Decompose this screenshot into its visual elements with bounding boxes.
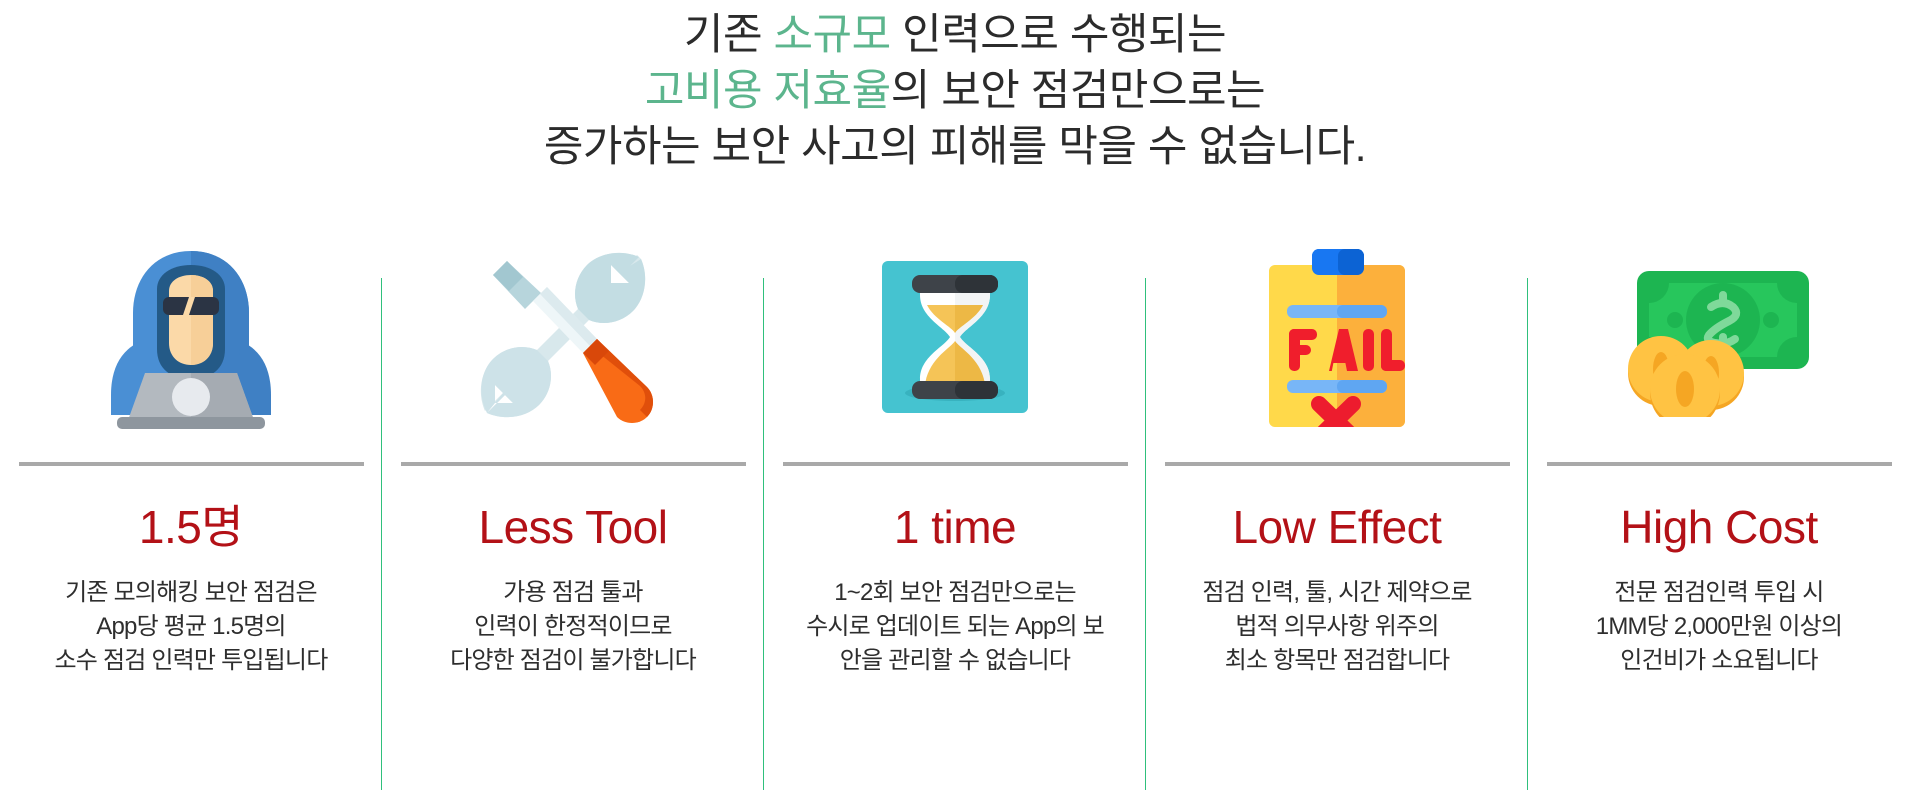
card-desc-line: 1MM당 2,000만원 이상의: [1596, 610, 1842, 644]
card-desc-line: 기존 모의해킹 보안 점검은: [55, 576, 328, 610]
card-metric-2: Less Tool: [478, 504, 667, 550]
card-description-1: 기존 모의해킹 보안 점검은 App당 평균 1.5명의 소수 점검 인력만 투…: [55, 576, 328, 678]
headline-line-1-pre: 기존: [684, 11, 774, 59]
card-metric-4: Low Effect: [1233, 504, 1442, 550]
headline-line-2: 고비용 저효율의 보안 점검만으로는: [0, 64, 1910, 120]
money-icon: [1619, 257, 1819, 417]
fail-clipboard-icon: [1267, 247, 1407, 427]
hourglass-icon: [882, 261, 1028, 413]
feature-card-2: Less Tool 가용 점검 툴과 인력이 한정적이므로 다양한 점검이 불가…: [382, 212, 764, 812]
page-headline: 기존 소규모 인력으로 수행되는 고비용 저효율의 보안 점검만으로는 증가하는…: [0, 8, 1910, 176]
card-desc-line: 점검 인력, 툴, 시간 제약으로: [1202, 576, 1471, 610]
card-metric-3: 1 time: [894, 504, 1016, 550]
card-divider-horizontal: [1547, 462, 1892, 466]
card-metric-5: High Cost: [1620, 504, 1817, 550]
headline-highlight-1: 소규모: [774, 11, 891, 59]
card-desc-line: 인건비가 소요됩니다: [1596, 644, 1842, 678]
feature-icon-1-wrap: [0, 212, 382, 462]
card-divider-horizontal: [401, 462, 746, 466]
card-description-4: 점검 인력, 툴, 시간 제약으로 법적 의무사항 위주의 최소 항목만 점검합…: [1202, 576, 1471, 678]
card-metric-1: 1.5명: [139, 504, 243, 550]
card-desc-line: 안을 관리할 수 없습니다: [806, 644, 1104, 678]
card-desc-line: 수시로 업데이트 되는 App의 보: [806, 610, 1104, 644]
card-desc-line: 인력이 한정적이므로: [450, 610, 696, 644]
feature-card-5: High Cost 전문 점검인력 투입 시 1MM당 2,000만원 이상의 …: [1528, 212, 1910, 812]
card-divider-horizontal: [19, 462, 364, 466]
feature-icon-3-wrap: [764, 212, 1146, 462]
card-description-5: 전문 점검인력 투입 시 1MM당 2,000만원 이상의 인건비가 소요됩니다: [1596, 576, 1842, 678]
headline-line-3: 증가하는 보안 사고의 피해를 막을 수 없습니다.: [0, 120, 1910, 176]
card-desc-line: 가용 점검 툴과: [450, 576, 696, 610]
headline-line-2-post: 의 보안 점검만으로는: [891, 67, 1265, 115]
headline-highlight-2: 고비용 저효율: [645, 67, 891, 115]
headline-line-1: 기존 소규모 인력으로 수행되는: [0, 8, 1910, 64]
card-description-3: 1~2회 보안 점검만으로는 수시로 업데이트 되는 App의 보 안을 관리할…: [806, 576, 1104, 678]
feature-card-row: 1.5명 기존 모의해킹 보안 점검은 App당 평균 1.5명의 소수 점검 …: [0, 212, 1910, 812]
feature-icon-4-wrap: [1146, 212, 1528, 462]
feature-card-1: 1.5명 기존 모의해킹 보안 점검은 App당 평균 1.5명의 소수 점검 …: [0, 212, 382, 812]
card-desc-line: 법적 의무사항 위주의: [1202, 610, 1471, 644]
card-desc-line: App당 평균 1.5명의: [55, 610, 328, 644]
headline-line-1-post: 인력으로 수행되는: [891, 11, 1226, 59]
feature-icon-5-wrap: [1528, 212, 1910, 462]
feature-card-3: 1 time 1~2회 보안 점검만으로는 수시로 업데이트 되는 App의 보…: [764, 212, 1146, 812]
card-divider-horizontal: [783, 462, 1128, 466]
card-desc-line: 소수 점검 인력만 투입됩니다: [55, 644, 328, 678]
tools-icon: [479, 247, 667, 427]
card-desc-line: 1~2회 보안 점검만으로는: [806, 576, 1104, 610]
card-description-2: 가용 점검 툴과 인력이 한정적이므로 다양한 점검이 불가합니다: [450, 576, 696, 678]
card-desc-line: 다양한 점검이 불가합니다: [450, 644, 696, 678]
card-desc-line: 최소 항목만 점검합니다: [1202, 644, 1471, 678]
card-desc-line: 전문 점검인력 투입 시: [1596, 576, 1842, 610]
feature-card-4: Low Effect 점검 인력, 툴, 시간 제약으로 법적 의무사항 위주의…: [1146, 212, 1528, 812]
card-divider-horizontal: [1165, 462, 1510, 466]
hacker-icon: [103, 245, 279, 429]
feature-icon-2-wrap: [382, 212, 764, 462]
